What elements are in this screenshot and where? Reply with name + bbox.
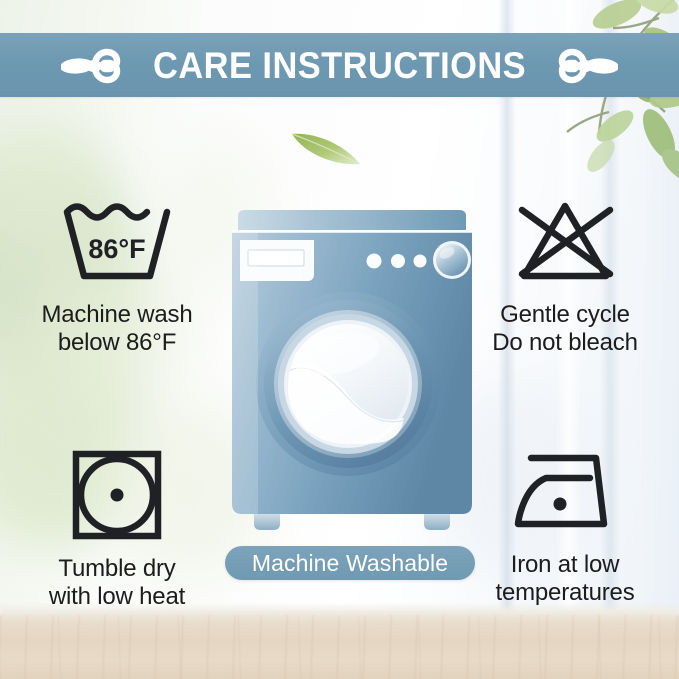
tumble-dry-icon <box>12 446 222 547</box>
iron-icon <box>460 446 670 543</box>
banner: CARE INSTRUCTIONS <box>0 33 679 97</box>
washing-machine-illustration <box>228 208 476 538</box>
care-symbol-label: Machine wash below 86°F <box>12 301 222 357</box>
machine-washable-badge: Machine Washable <box>225 546 475 580</box>
care-instructions-infographic: CARE INSTRUCTIONS <box>0 0 679 679</box>
care-symbol-iron: Iron at low temperatures <box>460 446 670 607</box>
care-symbol-do-not-bleach: Gentle cycle Do not bleach <box>460 196 670 357</box>
fleur-de-lis-ornament-left-icon <box>61 43 123 87</box>
care-symbol-label: Iron at low temperatures <box>460 551 670 607</box>
wash-tub-icon: 86°F <box>12 196 222 293</box>
care-symbol-label: Tumble dry with low heat <box>12 555 222 611</box>
care-symbol-label: Gentle cycle Do not bleach <box>460 301 670 357</box>
wash-temperature-value: 86°F <box>88 234 145 264</box>
wood-grain-texture <box>0 615 679 679</box>
care-symbol-machine-wash: 86°F Machine wash below 86°F <box>12 196 222 357</box>
badge-label: Machine Washable <box>252 550 448 577</box>
triangle-crossed-icon <box>460 196 670 293</box>
page-title: CARE INSTRUCTIONS <box>153 47 526 84</box>
floating-leaf-icon <box>288 124 366 170</box>
care-symbol-tumble-dry: Tumble dry with low heat <box>12 446 222 611</box>
fleur-de-lis-ornament-right-icon <box>556 43 618 87</box>
